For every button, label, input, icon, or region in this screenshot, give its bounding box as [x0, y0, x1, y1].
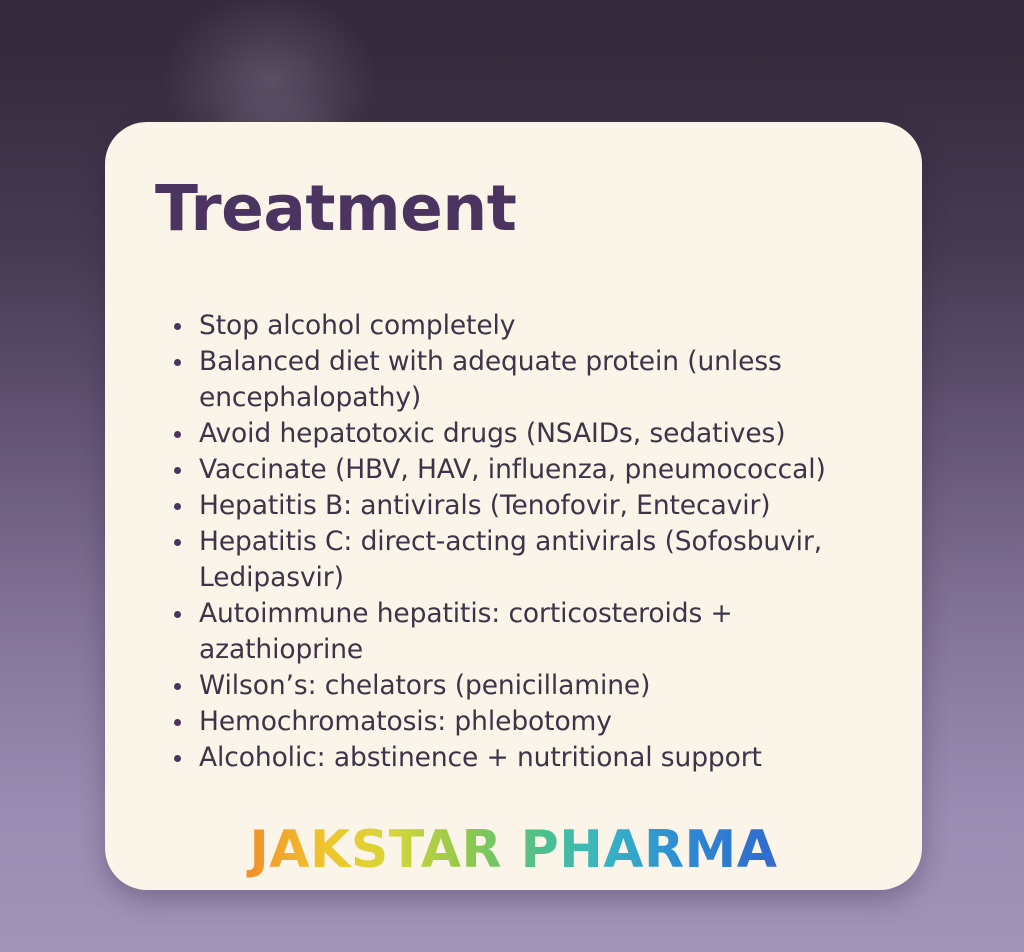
list-item: Wilson’s: chelators (penicillamine): [163, 668, 892, 704]
list-item-label: Vaccinate (HBV, HAV, influenza, pneumoco…: [199, 454, 826, 485]
content-card: Treatment Stop alcohol completelyBalance…: [105, 122, 922, 890]
list-item-label: Hepatitis B: antivirals (Tenofovir, Ente…: [199, 490, 771, 521]
list-item: Hepatitis C: direct-acting antivirals (S…: [163, 524, 892, 596]
list-item: Avoid hepatotoxic drugs (NSAIDs, sedativ…: [163, 416, 892, 452]
list-item-label: Stop alcohol completely: [199, 310, 515, 341]
bullet-dot-icon: [174, 755, 181, 762]
list-item-label: Hemochromatosis: phlebotomy: [199, 706, 612, 737]
bullet-dot-icon: [174, 611, 181, 618]
bullet-dot-icon: [174, 359, 181, 366]
list-item-label: Avoid hepatotoxic drugs (NSAIDs, sedativ…: [199, 418, 785, 449]
bullet-dot-icon: [174, 323, 181, 330]
treatment-bullet-list: Stop alcohol completelyBalanced diet wit…: [163, 308, 892, 776]
list-item: Hepatitis B: antivirals (Tenofovir, Ente…: [163, 488, 892, 524]
list-item-label: Autoimmune hepatitis: corticosteroids + …: [199, 598, 733, 665]
list-item: Stop alcohol completely: [163, 308, 892, 344]
bullet-dot-icon: [174, 431, 181, 438]
list-item-label: Alcoholic: abstinence + nutritional supp…: [199, 742, 762, 773]
list-item: Autoimmune hepatitis: corticosteroids + …: [163, 596, 892, 668]
bullet-dot-icon: [174, 467, 181, 474]
list-item-label: Wilson’s: chelators (penicillamine): [199, 670, 650, 701]
list-item: Vaccinate (HBV, HAV, influenza, pneumoco…: [163, 452, 892, 488]
slide-canvas: Treatment Stop alcohol completelyBalance…: [0, 0, 1024, 952]
list-item: Hemochromatosis: phlebotomy: [163, 704, 892, 740]
list-item-label: Balanced diet with adequate protein (unl…: [199, 346, 782, 413]
bullet-dot-icon: [174, 539, 181, 546]
bullet-dot-icon: [174, 719, 181, 726]
bullet-dot-icon: [174, 503, 181, 510]
list-item: Balanced diet with adequate protein (unl…: [163, 344, 892, 416]
page-title: Treatment: [155, 177, 516, 240]
list-item: Alcoholic: abstinence + nutritional supp…: [163, 740, 892, 776]
list-item-label: Hepatitis C: direct-acting antivirals (S…: [199, 526, 822, 593]
brand-watermark: JAKSTAR PHARMA: [105, 823, 922, 878]
bullet-dot-icon: [174, 683, 181, 690]
